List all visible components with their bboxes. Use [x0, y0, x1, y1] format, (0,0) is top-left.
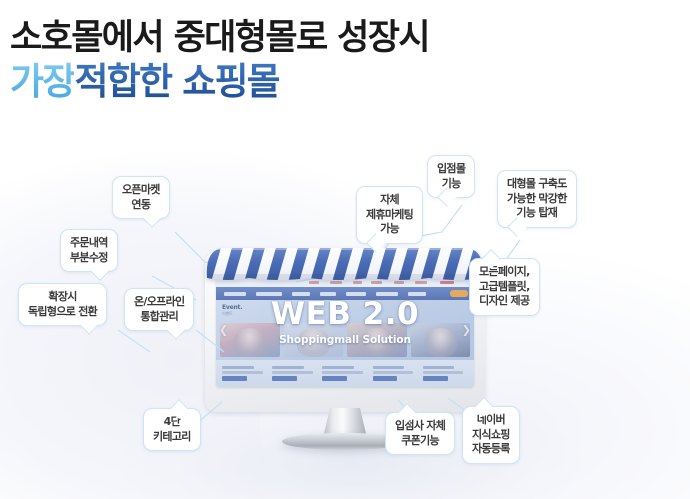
callout-line: 네이버 — [472, 413, 510, 428]
connector-expand — [118, 330, 150, 352]
shop-awning — [199, 244, 491, 284]
callout-line: 대형몰 구축도 — [507, 177, 567, 192]
callout-line: 제휴마케팅 — [366, 208, 413, 223]
overlay-subtitle: Shoppingmall Solution — [279, 334, 411, 346]
callout-affiliate-marketing[interactable]: 자체 제휴마케팅 가능 — [356, 186, 423, 244]
callout-line: 쿠폰기능 — [395, 434, 445, 449]
infographic-canvas: 소호몰에서 중대형몰로 성장시 가장적합한 쇼핑몰 — [0, 0, 690, 499]
callout-line: 자동등록 — [472, 442, 510, 457]
callout-line: 기능 탑재 — [507, 206, 567, 221]
callout-tenant-mall[interactable]: 입점몰 기능 — [427, 155, 475, 198]
callout-large-mall-build[interactable]: 대형몰 구축도 가능한 막강한 기능 탑재 — [497, 170, 577, 228]
callout-line: 연동 — [122, 198, 160, 213]
headline-accent-word: 가장 — [10, 60, 74, 103]
callout-line: 디자인 제공 — [479, 294, 530, 309]
callout-line: 4단 — [153, 415, 191, 430]
callout-line: 입점몰 — [437, 162, 465, 177]
callout-line: 가능 — [366, 222, 413, 237]
callout-line: 확장시 — [28, 290, 97, 305]
headline-line-1: 소호몰에서 중대형몰로 성장시 — [10, 18, 429, 59]
callout-line: 키테고리 — [153, 430, 191, 445]
callout-expand-standalone[interactable]: 확장시 독립형으로 전환 — [18, 283, 107, 326]
callout-line: 모든페이지, — [479, 265, 530, 280]
callout-line: 자체 — [366, 193, 413, 208]
callout-line: 고급템플릿, — [479, 280, 530, 295]
page-title: 소호몰에서 중대형몰로 성장시 가장적합한 쇼핑몰 — [10, 18, 429, 103]
callout-line: 주문내역 — [70, 236, 108, 251]
callout-pages-templates[interactable]: 모든페이지, 고급템플릿, 디자인 제공 — [469, 258, 540, 316]
callout-four-step-category[interactable]: 4단 키테고리 — [143, 408, 201, 451]
headline-main-words: 적합한 쇼핑몰 — [74, 60, 279, 103]
callout-line: 지식쇼핑 — [472, 428, 510, 443]
callout-line: 온/오프라인 — [134, 295, 184, 310]
callout-line: 독립형으로 전환 — [28, 305, 97, 320]
callout-line: 가능한 막강한 — [507, 192, 567, 207]
callout-line: 입점사 자체 — [395, 419, 445, 434]
callout-line: 통합관리 — [134, 310, 184, 325]
callout-naver-shopping[interactable]: 네이버 지식쇼핑 자동등록 — [462, 406, 520, 464]
headline-line-2: 가장적합한 쇼핑몰 — [10, 61, 429, 103]
callout-open-market[interactable]: 오픈마켓 연동 — [112, 176, 170, 219]
overlay-title: WEB 2.0 — [271, 299, 419, 330]
callout-tenant-coupon[interactable]: 입점사 자체 쿠폰기능 — [385, 412, 455, 455]
awning-stripes — [199, 244, 491, 284]
callout-line: 오픈마켓 — [122, 183, 160, 198]
callout-line: 부분수정 — [70, 251, 108, 266]
callout-order-partial-edit[interactable]: 주문내역 부분수정 — [60, 229, 118, 272]
callout-on-offline-manage[interactable]: 온/오프라인 통합관리 — [124, 288, 194, 331]
callout-line: 기능 — [437, 177, 465, 192]
